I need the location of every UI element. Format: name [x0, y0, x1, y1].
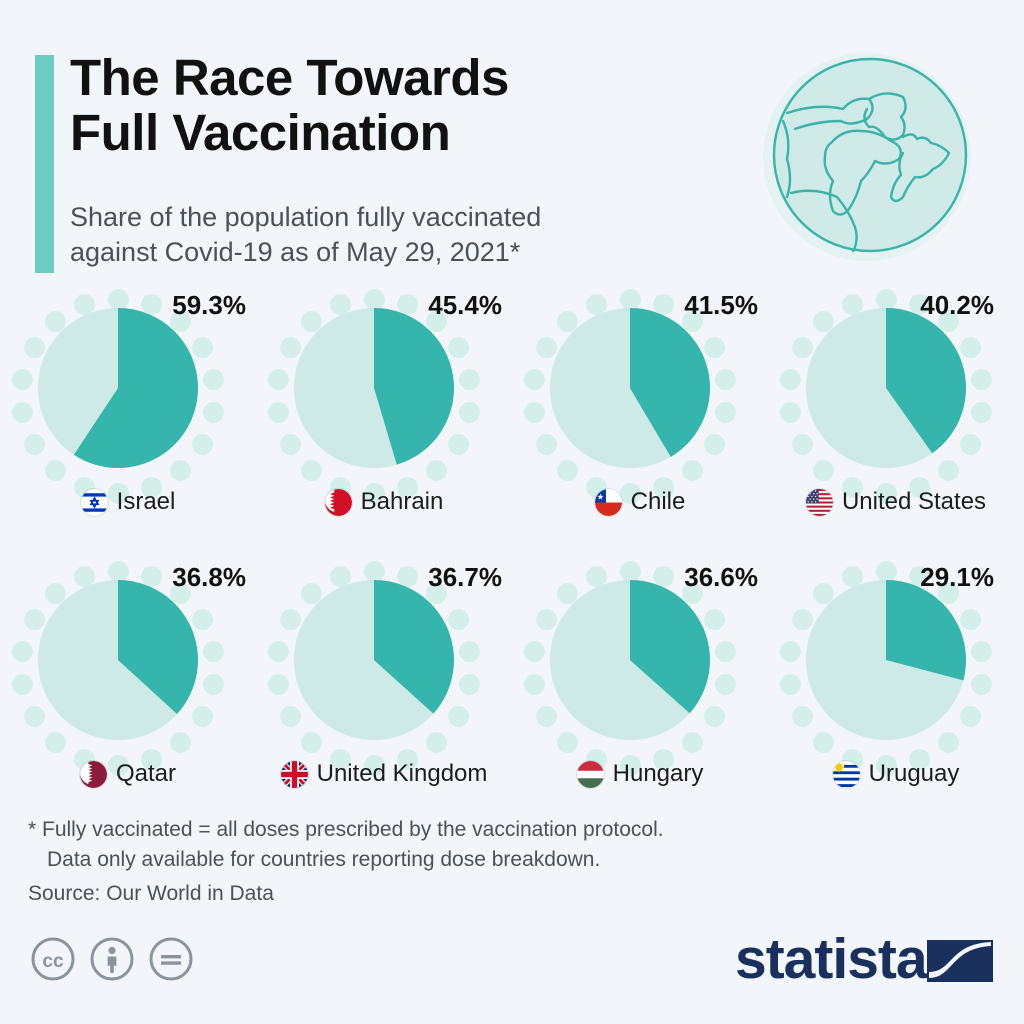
country-label: Uruguay	[768, 760, 1024, 788]
pie-chart[interactable]	[38, 580, 198, 740]
pie-chart[interactable]	[806, 308, 966, 468]
country-label: United Kingdom	[256, 760, 512, 788]
pie-cell-hungary: 36.6% Hungary	[512, 560, 768, 825]
pie-value-label: 36.8%	[172, 562, 246, 593]
pie-value-label: 41.5%	[684, 290, 758, 321]
country-name: Hungary	[613, 760, 704, 788]
flag-qatar-icon	[80, 761, 107, 788]
pie-chart[interactable]	[294, 580, 454, 740]
pie-cell-qatar: 36.8% Qatar	[0, 560, 256, 825]
pie-wedge-filled	[294, 308, 454, 468]
pie-chart[interactable]	[294, 308, 454, 468]
pie-wedge-filled	[38, 308, 198, 468]
flag-united-kingdom-icon	[281, 761, 308, 788]
page-subtitle: Share of the population fully vaccinated…	[70, 200, 750, 269]
pie-chart[interactable]	[38, 308, 198, 468]
svg-text:cc: cc	[42, 951, 64, 972]
pie-cell-united-states: 40.2% United States	[768, 288, 1024, 553]
pie-cell-israel: 59.3% Israel	[0, 288, 256, 553]
pie-wedge-filled	[38, 580, 198, 740]
pie-wedge-filled	[550, 580, 710, 740]
title-line-2: Full Vaccination	[70, 105, 750, 160]
pie-wedge-filled	[294, 580, 454, 740]
country-name: Bahrain	[361, 488, 444, 516]
footnotes: * Fully vaccinated = all doses prescribe…	[28, 815, 928, 875]
country-label: United States	[768, 488, 1024, 516]
subtitle-line-2: against Covid-19 as of May 29, 2021*	[70, 235, 750, 270]
flag-uruguay-icon	[833, 761, 860, 788]
pie-chart[interactable]	[550, 580, 710, 740]
pie-stage	[530, 296, 750, 496]
country-name: Uruguay	[869, 760, 960, 788]
header: The Race Towards Full Vaccination Share …	[0, 0, 1024, 290]
cc-no-derivatives-icon[interactable]	[148, 936, 194, 987]
statista-logo[interactable]: statista	[735, 928, 997, 992]
title-line-1: The Race Towards	[70, 50, 750, 105]
source-line: Source: Our World in Data	[28, 882, 274, 906]
footnote-line-1: * Fully vaccinated = all doses prescribe…	[28, 815, 928, 845]
pie-row-2: 36.8% Qatar 36.7% United Kin	[0, 560, 1024, 825]
pie-value-label: 59.3%	[172, 290, 246, 321]
pie-stage	[274, 568, 494, 768]
pie-value-label: 40.2%	[920, 290, 994, 321]
pie-chart[interactable]	[806, 580, 966, 740]
title-accent-bar	[35, 55, 54, 273]
country-label: Qatar	[0, 760, 256, 788]
cc-attribution-icon[interactable]	[89, 936, 135, 987]
pie-chart[interactable]	[550, 308, 710, 468]
pie-cell-uruguay: 29.1% Uruguay	[768, 560, 1024, 825]
pie-wedge-filled	[550, 308, 710, 468]
country-name: Chile	[631, 488, 686, 516]
page-title: The Race Towards Full Vaccination	[70, 50, 750, 160]
subtitle-line-1: Share of the population fully vaccinated	[70, 200, 750, 235]
country-name: United States	[842, 488, 986, 516]
country-label: Chile	[512, 488, 768, 516]
flag-israel-icon	[81, 489, 108, 516]
pie-cell-bahrain: 45.4% Bahrain	[256, 288, 512, 553]
country-label: Bahrain	[256, 488, 512, 516]
country-label: Israel	[0, 488, 256, 516]
country-name: United Kingdom	[317, 760, 488, 788]
country-label: Hungary	[512, 760, 768, 788]
pie-stage	[18, 568, 238, 768]
country-name: Israel	[117, 488, 176, 516]
flag-chile-icon	[595, 489, 622, 516]
pie-cell-chile: 41.5% Chile	[512, 288, 768, 553]
globe-icon	[757, 47, 977, 267]
pie-stage	[274, 296, 494, 496]
pie-stage	[786, 296, 1006, 496]
creative-commons-license: cc	[30, 936, 194, 987]
pie-value-label: 45.4%	[428, 290, 502, 321]
pie-stage	[530, 568, 750, 768]
footnote-line-2: Data only available for countries report…	[28, 845, 928, 875]
pie-stage	[786, 568, 1006, 768]
pie-value-label: 36.7%	[428, 562, 502, 593]
pie-row-1: 59.3% Israel 45.4% Bahrain	[0, 288, 1024, 553]
pie-value-label: 29.1%	[920, 562, 994, 593]
svg-text:statista: statista	[735, 928, 929, 991]
pie-wedge-filled	[806, 308, 966, 468]
pie-wedge-filled	[806, 580, 966, 740]
flag-united-states-icon	[806, 489, 833, 516]
pie-value-label: 36.6%	[684, 562, 758, 593]
pie-stage	[18, 296, 238, 496]
creative-commons-icon[interactable]: cc	[30, 936, 76, 987]
pie-cell-united-kingdom: 36.7% United Kingdom	[256, 560, 512, 825]
flag-hungary-icon	[577, 761, 604, 788]
pie-chart-grid: 59.3% Israel 45.4% Bahrain	[0, 288, 1024, 818]
country-name: Qatar	[116, 760, 176, 788]
flag-bahrain-icon	[325, 489, 352, 516]
